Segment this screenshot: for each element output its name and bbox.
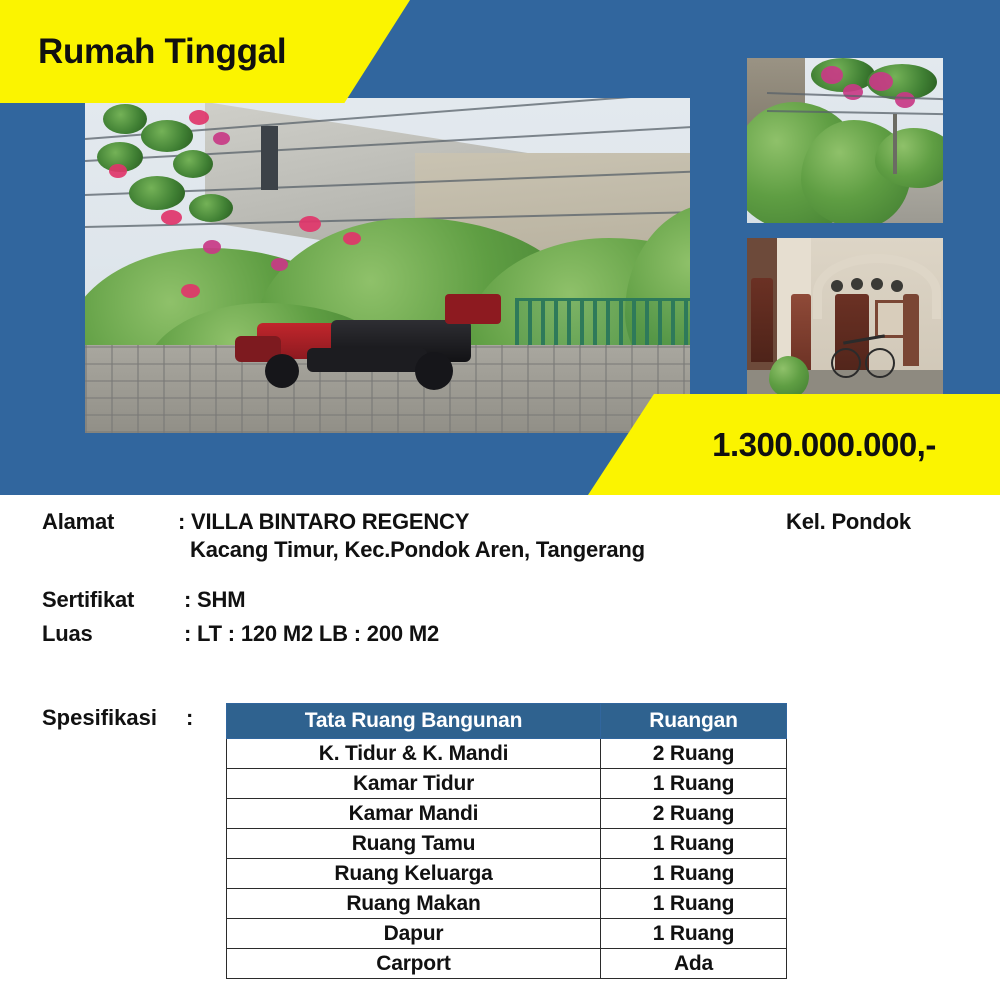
leaf xyxy=(129,176,185,210)
cell-room: Ruang Tamu xyxy=(227,829,601,859)
cell-room: Ruang Keluarga xyxy=(227,859,601,889)
parked-vehicle xyxy=(445,294,501,324)
bougainvillea-flower xyxy=(343,232,361,245)
title-banner: Rumah Tinggal xyxy=(0,0,410,103)
page-title: Rumah Tinggal xyxy=(38,34,286,69)
vent-hole xyxy=(831,280,843,292)
area-label: Luas xyxy=(42,621,93,647)
bougainvillea-flower xyxy=(189,110,209,125)
bougainvillea-flower xyxy=(109,164,127,178)
table-row: CarportAda xyxy=(227,949,787,979)
address-label: Alamat xyxy=(42,509,114,535)
spesifikasi-label: Spesifikasi xyxy=(42,705,157,731)
bougainvillea-flower xyxy=(299,216,321,232)
vent-hole xyxy=(851,278,863,290)
shutter xyxy=(903,294,919,366)
cell-count: 1 Ruang xyxy=(601,859,787,889)
column-header-count: Ruangan xyxy=(601,704,787,739)
cell-room: Ruang Makan xyxy=(227,889,601,919)
property-listing-page: Rumah Tinggal 1.300.000.000,- Alamat : V… xyxy=(0,0,1000,1000)
thumbnail-street-view xyxy=(747,58,943,223)
table-row: Ruang Makan1 Ruang xyxy=(227,889,787,919)
vent-hole xyxy=(871,278,883,290)
address-line-1: : VILLA BINTARO REGENCY xyxy=(178,509,469,535)
kelurahan-value: Kel. Pondok xyxy=(786,509,911,535)
cell-room: Carport xyxy=(227,949,601,979)
vent-hole xyxy=(891,280,903,292)
cell-room: K. Tidur & K. Mandi xyxy=(227,739,601,769)
table-row: Kamar Mandi2 Ruang xyxy=(227,799,787,829)
cell-count: 1 Ruang xyxy=(601,769,787,799)
address-line-2: Kacang Timur, Kec.Pondok Aren, Tangerang xyxy=(190,537,645,563)
cell-count: 2 Ruang xyxy=(601,739,787,769)
hero-panel: Rumah Tinggal 1.300.000.000,- xyxy=(0,0,1000,495)
bougainvillea-flower xyxy=(161,210,182,225)
price-banner: 1.300.000.000,- xyxy=(588,394,1000,495)
table-row: Kamar Tidur1 Ruang xyxy=(227,769,787,799)
price-value: 1.300.000.000,- xyxy=(588,426,1000,464)
door xyxy=(751,278,773,362)
table-header-row: Tata Ruang Bangunan Ruangan xyxy=(227,704,787,739)
utility-pole-icon xyxy=(261,126,278,190)
table-row: Ruang Tamu1 Ruang xyxy=(227,829,787,859)
cell-count: 1 Ruang xyxy=(601,919,787,949)
area-value: : LT : 120 M2 LB : 200 M2 xyxy=(184,621,439,647)
bicycle-wheel xyxy=(831,348,861,378)
bougainvillea-flower xyxy=(869,72,893,91)
cell-count: 2 Ruang xyxy=(601,799,787,829)
cell-room: Kamar Tidur xyxy=(227,769,601,799)
certificate-label: Sertifikat xyxy=(42,587,134,613)
wheel xyxy=(265,354,299,388)
bougainvillea-flower xyxy=(271,258,288,271)
potted-plant xyxy=(769,356,809,398)
motorcycle-black-body xyxy=(307,348,427,372)
table-row: Ruang Keluarga1 Ruang xyxy=(227,859,787,889)
spesifikasi-colon: : xyxy=(186,705,193,731)
utility-pole-icon xyxy=(893,114,897,174)
cell-count: Ada xyxy=(601,949,787,979)
bougainvillea-flower xyxy=(213,132,230,145)
cell-count: 1 Ruang xyxy=(601,889,787,919)
column-header-room: Tata Ruang Bangunan xyxy=(227,704,601,739)
leaf xyxy=(103,104,147,134)
wheel xyxy=(415,352,453,390)
bougainvillea-flower xyxy=(181,284,200,298)
certificate-value: : SHM xyxy=(184,587,245,613)
leaf xyxy=(141,120,193,152)
cell-room: Kamar Mandi xyxy=(227,799,601,829)
specification-table: Tata Ruang Bangunan Ruangan K. Tidur & K… xyxy=(226,703,787,979)
bougainvillea-flower xyxy=(821,66,843,84)
table-row: Dapur1 Ruang xyxy=(227,919,787,949)
leaf xyxy=(173,150,213,178)
table-row: K. Tidur & K. Mandi2 Ruang xyxy=(227,739,787,769)
bougainvillea-flower xyxy=(843,84,863,100)
cell-count: 1 Ruang xyxy=(601,829,787,859)
bougainvillea-flower xyxy=(203,240,221,254)
main-property-photo xyxy=(85,98,690,433)
bicycle-wheel xyxy=(865,348,895,378)
leaf xyxy=(189,194,233,222)
thumbnail-terrace xyxy=(747,238,943,398)
bougainvillea-flower xyxy=(895,92,915,108)
cell-room: Dapur xyxy=(227,919,601,949)
